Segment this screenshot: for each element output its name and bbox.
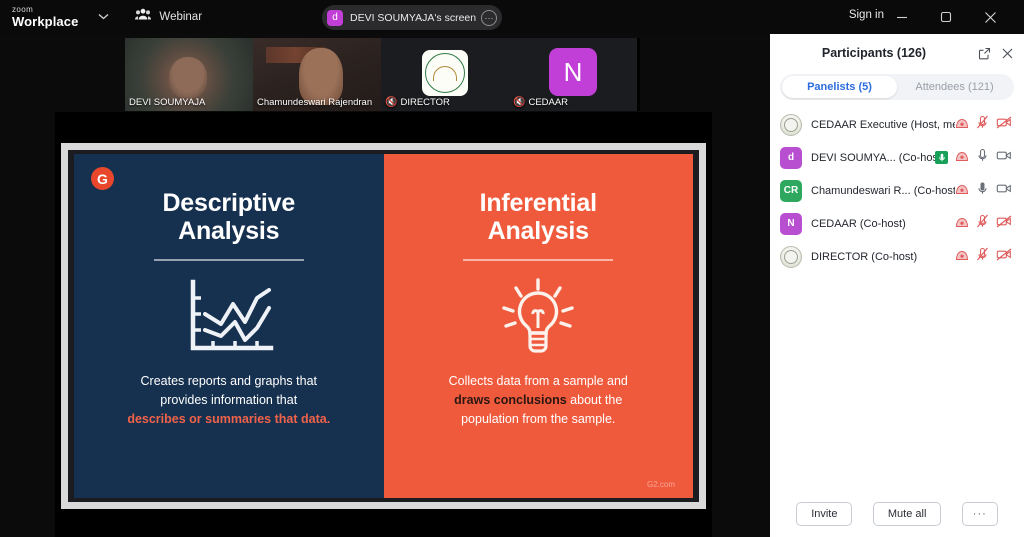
- participant-status-icons: [955, 181, 1012, 200]
- video-thumbnail[interactable]: N 🔇 CEDAAR: [509, 38, 637, 111]
- list-item[interactable]: CR Chamundeswari R... (Co-host): [770, 174, 1024, 207]
- avatar: CR: [780, 180, 802, 202]
- participants-panel: Participants (126) Panelists (5) Attende…: [770, 34, 1024, 537]
- participants-list[interactable]: CEDAAR Executive (Host, me) d DEVI SOUMY…: [770, 100, 1024, 491]
- participants-tabs: Panelists (5) Attendees (121): [780, 74, 1014, 100]
- raise-hand-icon: [955, 116, 969, 134]
- thumbnail-name-label: 🔇 DIRECTOR: [385, 97, 450, 108]
- shared-screen-stage: G Descriptive Analysis: [55, 112, 712, 537]
- sign-in-button[interactable]: Sign in: [849, 9, 884, 21]
- divider: [463, 259, 613, 261]
- zoom-workplace-logo: zoom Workplace: [12, 6, 78, 28]
- raise-hand-icon: [955, 248, 969, 266]
- webinar-label: Webinar: [159, 11, 202, 23]
- mic-muted-icon[interactable]: [976, 214, 989, 233]
- list-item[interactable]: DIRECTOR (Co-host): [770, 240, 1024, 273]
- descriptive-analysis-panel: G Descriptive Analysis: [74, 154, 384, 498]
- video-thumbnail[interactable]: 🔇 DIRECTOR: [381, 38, 509, 111]
- mute-all-button[interactable]: Mute all: [873, 502, 942, 526]
- participant-status-icons: [955, 214, 1012, 233]
- minimize-icon[interactable]: [884, 0, 920, 34]
- mic-muted-icon: 🔇: [385, 97, 397, 108]
- mic-icon[interactable]: [976, 181, 989, 200]
- line-chart-icon: [74, 265, 384, 370]
- video-muted-icon[interactable]: [996, 248, 1012, 266]
- close-icon[interactable]: [1001, 47, 1014, 60]
- popout-icon[interactable]: [978, 47, 991, 60]
- raise-hand-icon: [955, 182, 969, 200]
- descriptive-body: Creates reports and graphs that provides…: [74, 372, 384, 430]
- title-bar: zoom Workplace Webinar d DEVI SOUMYAJA's: [0, 0, 1024, 34]
- share-avatar: d: [327, 10, 343, 26]
- descriptive-title: Descriptive Analysis: [74, 189, 384, 246]
- thumbnail-name-label: 🔇 CEDAAR: [513, 97, 568, 108]
- avatar: [780, 246, 802, 268]
- participants-footer: Invite Mute all ···: [770, 491, 1024, 537]
- shared-slide: G Descriptive Analysis: [61, 143, 706, 509]
- video-icon[interactable]: [996, 182, 1012, 200]
- raise-hand-icon: [955, 149, 969, 167]
- participant-name: Chamundeswari R... (Co-host): [811, 185, 955, 197]
- tab-attendees[interactable]: Attendees (121): [897, 76, 1012, 98]
- g2-logo-icon: G: [91, 167, 114, 190]
- inferential-body: Collects data from a sample and draws co…: [384, 372, 694, 430]
- participants-title: Participants (126): [780, 46, 968, 60]
- more-options-button[interactable]: ···: [962, 502, 998, 526]
- participants-header: Participants (126): [770, 34, 1024, 72]
- avatar: [780, 114, 802, 136]
- participant-name: DIRECTOR (Co-host): [811, 251, 917, 263]
- watermark: G2.com: [647, 480, 675, 489]
- divider: [154, 259, 304, 261]
- mic-muted-icon[interactable]: [976, 115, 989, 134]
- chevron-down-icon[interactable]: [98, 11, 109, 23]
- maximize-icon[interactable]: [928, 0, 964, 34]
- raise-hand-icon: [955, 215, 969, 233]
- speaking-badge-icon: [935, 151, 948, 164]
- video-muted-icon[interactable]: [996, 116, 1012, 134]
- participant-name: DEVI SOUMYA... (Co-host): [811, 152, 935, 164]
- people-group-icon: [135, 8, 151, 26]
- mic-muted-icon[interactable]: [976, 247, 989, 266]
- avatar: d: [780, 147, 802, 169]
- mic-muted-icon: 🔇: [513, 97, 525, 108]
- brand-zoom-text: zoom: [12, 6, 78, 14]
- inferential-analysis-panel: Inferential Analysis: [384, 154, 694, 498]
- mic-icon[interactable]: [976, 148, 989, 167]
- video-icon[interactable]: [996, 149, 1012, 167]
- avatar: N: [780, 213, 802, 235]
- invite-button[interactable]: Invite: [796, 502, 852, 526]
- participant-name: CEDAAR (Co-host): [811, 218, 906, 230]
- participant-status-icons: [935, 148, 1012, 167]
- thumbnail-name-label: Chamundeswari Rajendran: [257, 97, 372, 108]
- close-icon[interactable]: [972, 0, 1008, 34]
- video-thumbnail[interactable]: DEVI SOUMYAJA: [125, 38, 253, 111]
- participant-name: CEDAAR Executive (Host, me): [811, 119, 955, 131]
- share-label: DEVI SOUMYAJA's screen: [350, 12, 476, 24]
- participant-status-icons: [955, 115, 1012, 134]
- video-thumbnail-strip: DEVI SOUMYAJA Chamundeswari Rajendran 🔇 …: [125, 38, 640, 111]
- lightbulb-icon: [384, 265, 694, 370]
- cedaar-logo-icon: [422, 50, 468, 96]
- video-thumbnail-active-speaker[interactable]: Chamundeswari Rajendran: [253, 38, 381, 111]
- participant-status-icons: [955, 247, 1012, 266]
- list-item[interactable]: CEDAAR Executive (Host, me): [770, 108, 1024, 141]
- more-options-icon[interactable]: ⋯: [481, 10, 497, 26]
- video-muted-icon[interactable]: [996, 215, 1012, 233]
- list-item[interactable]: d DEVI SOUMYA... (Co-host): [770, 141, 1024, 174]
- brand-workplace-text: Workplace: [12, 15, 78, 28]
- webinar-indicator: Webinar: [135, 8, 202, 26]
- avatar: N: [549, 48, 597, 96]
- zoom-window: zoom Workplace Webinar d DEVI SOUMYAJA's: [0, 0, 1024, 537]
- thumbnail-name-label: DEVI SOUMYAJA: [129, 97, 205, 108]
- screen-share-indicator[interactable]: d DEVI SOUMYAJA's screen ⋯: [322, 5, 502, 30]
- tab-panelists[interactable]: Panelists (5): [782, 76, 897, 98]
- list-item[interactable]: N CEDAAR (Co-host): [770, 207, 1024, 240]
- inferential-title: Inferential Analysis: [384, 189, 694, 246]
